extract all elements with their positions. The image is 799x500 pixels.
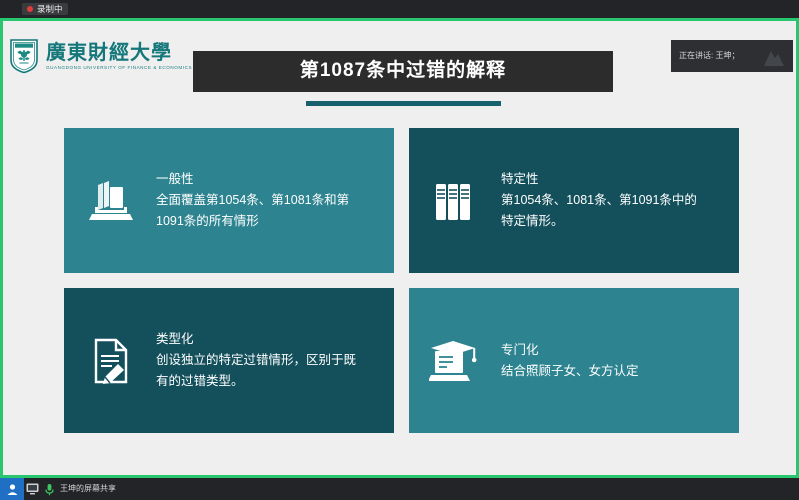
card-description: 全面覆盖第1054条、第1081条和第1091条的所有情形 bbox=[156, 190, 361, 232]
top-bar: 录制中 bbox=[0, 0, 799, 18]
page-title: 第1087条中过错的解释 bbox=[193, 51, 613, 92]
archive-binders-icon bbox=[427, 172, 485, 230]
person-avatar-icon bbox=[761, 44, 787, 68]
slide-title-band: 第1087条中过错的解释 bbox=[193, 51, 613, 106]
university-logo: 廣東財經大學 GUANGDONG UNIVERSITY OF FINANCE &… bbox=[9, 38, 192, 74]
recording-label: 录制中 bbox=[37, 4, 63, 14]
feature-card: 专门化 结合照顾子女、女方认定 bbox=[409, 288, 739, 433]
logo-name-en: GUANGDONG UNIVERSITY OF FINANCE & ECONOM… bbox=[46, 65, 192, 71]
active-speaker-label: 正在讲话: 王坤； bbox=[679, 51, 739, 61]
document-pencil-icon bbox=[82, 332, 140, 390]
feature-card: 类型化 创设独立的特定过错情形，区别于既有的过错类型。 bbox=[64, 288, 394, 433]
card-heading: 一般性 bbox=[156, 169, 361, 190]
feature-card: 一般性 全面覆盖第1054条、第1081条和第1091条的所有情形 bbox=[64, 128, 394, 273]
microphone-icon[interactable] bbox=[41, 478, 58, 500]
active-speaker-badge[interactable]: 正在讲话: 王坤； bbox=[671, 40, 793, 72]
card-description: 创设独立的特定过错情形，区别于既有的过错类型。 bbox=[156, 350, 361, 392]
shared-screen-frame: 廣東財經大學 GUANGDONG UNIVERSITY OF FINANCE &… bbox=[0, 18, 799, 478]
title-underline-rule bbox=[306, 101, 501, 106]
taskbar: 王坤的屏幕共享 bbox=[0, 478, 799, 500]
monitor-icon[interactable] bbox=[24, 478, 41, 500]
graduation-laptop-icon bbox=[427, 332, 485, 390]
card-heading: 专门化 bbox=[501, 340, 639, 361]
screen-share-taskbar-item[interactable]: 王坤的屏幕共享 bbox=[60, 484, 116, 494]
card-description: 结合照顾子女、女方认定 bbox=[501, 361, 639, 382]
logo-name-cn: 廣東財經大學 bbox=[46, 41, 192, 63]
card-description: 第1054条、1081条、第1091条中的特定情形。 bbox=[501, 190, 706, 232]
start-user-icon[interactable] bbox=[0, 478, 24, 500]
books-laptop-icon bbox=[82, 172, 140, 230]
record-dot-icon bbox=[27, 6, 33, 12]
conference-window: 录制中 bbox=[0, 0, 799, 500]
feature-card-grid: 一般性 全面覆盖第1054条、第1081条和第1091条的所有情形 bbox=[64, 128, 739, 433]
feature-card: 特定性 第1054条、1081条、第1091条中的特定情形。 bbox=[409, 128, 739, 273]
presentation-slide: 廣東財經大學 GUANGDONG UNIVERSITY OF FINANCE &… bbox=[3, 21, 796, 475]
recording-indicator: 录制中 bbox=[22, 3, 68, 15]
university-shield-icon bbox=[9, 38, 39, 74]
card-heading: 特定性 bbox=[501, 169, 706, 190]
screen-share-label: 王坤的屏幕共享 bbox=[60, 484, 116, 494]
card-heading: 类型化 bbox=[156, 329, 361, 350]
